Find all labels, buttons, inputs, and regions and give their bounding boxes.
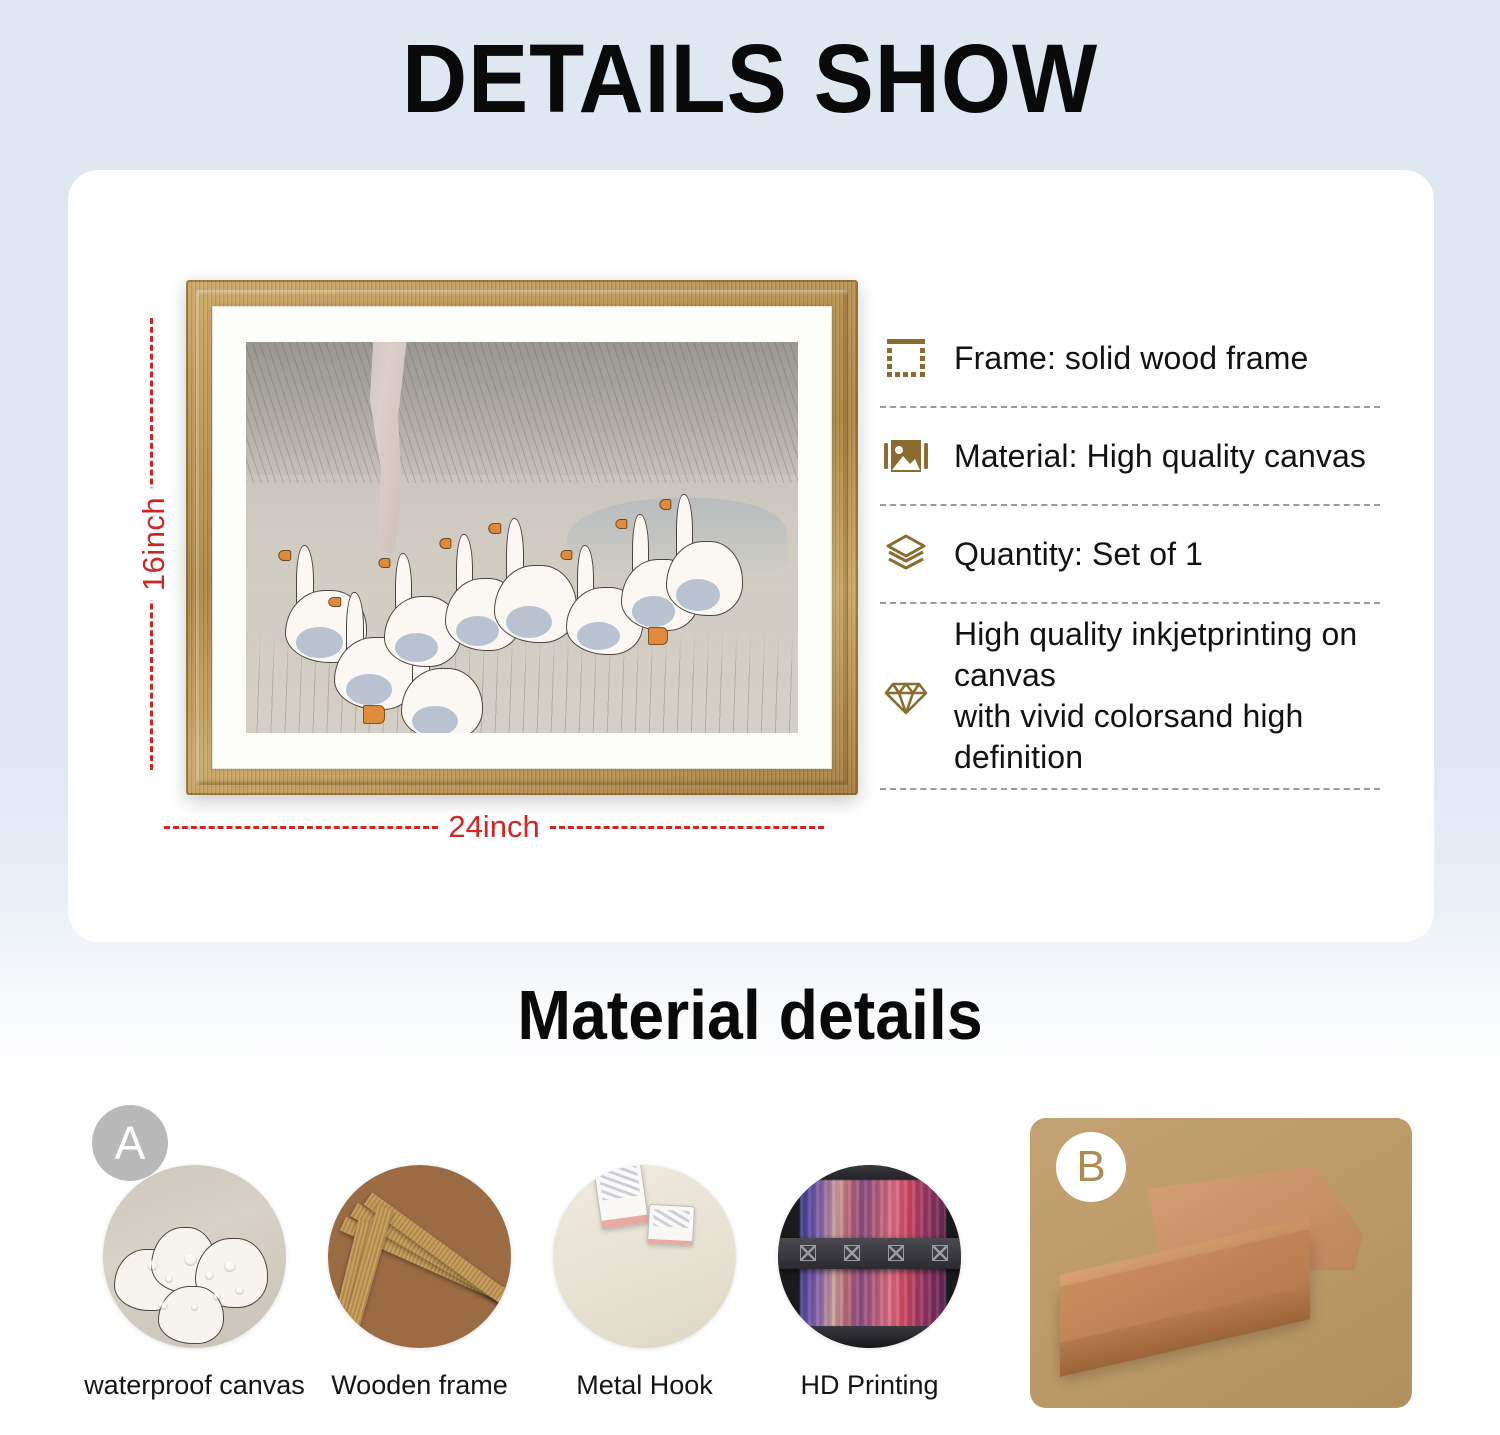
feature-label-printing: High quality inkjetprinting on canvas wi…	[954, 614, 1380, 778]
feature-row-quantity: Quantity: Set of 1	[880, 506, 1380, 602]
material-thumb-caption: Metal Hook	[576, 1370, 713, 1401]
diamond-icon	[880, 675, 932, 717]
feature-divider-4	[880, 788, 1380, 790]
feature-label-quantity: Quantity: Set of 1	[954, 534, 1203, 575]
feature-list: Frame: solid wood frame Material: High q…	[880, 310, 1380, 790]
frame-mat	[212, 306, 832, 769]
layers-icon	[880, 533, 932, 575]
metal-hook-image	[553, 1165, 736, 1348]
material-thumb-caption: Wooden frame	[331, 1370, 508, 1401]
feature-row-printing: High quality inkjetprinting on canvas wi…	[880, 604, 1380, 788]
image-icon	[880, 436, 932, 476]
feature-label-material: Material: High quality canvas	[954, 436, 1366, 477]
artwork-image	[246, 342, 798, 733]
material-thumb-caption: HD Printing	[800, 1370, 938, 1401]
frame-icon	[880, 337, 932, 379]
width-ruler-line-left	[164, 826, 438, 829]
wooden-frame-image	[328, 1165, 511, 1348]
material-thumb-caption: waterproof canvas	[84, 1370, 305, 1401]
width-ruler-label: 24inch	[438, 809, 549, 845]
material-thumb-metal-hook[interactable]: Metal Hook	[532, 1165, 757, 1401]
width-ruler: 24inch	[164, 804, 824, 850]
width-ruler-line-right	[550, 826, 824, 829]
feature-row-frame: Frame: solid wood frame	[880, 310, 1380, 406]
waterproof-canvas-image	[103, 1165, 286, 1348]
material-thumb-wooden-frame[interactable]: Wooden frame	[307, 1165, 532, 1401]
feature-label-frame: Frame: solid wood frame	[954, 338, 1308, 379]
material-details-title: Material details	[60, 975, 1440, 1055]
badge-a: A	[92, 1105, 168, 1181]
framed-artwork-block: 16inch	[128, 280, 818, 840]
height-ruler-label: 16inch	[131, 488, 177, 600]
picture-frame	[186, 280, 858, 795]
badge-b: B	[1056, 1132, 1126, 1202]
details-panel: 16inch	[68, 170, 1434, 942]
material-thumb-waterproof-canvas[interactable]: waterproof canvas	[82, 1165, 307, 1401]
material-thumb-hd-printing[interactable]: HD Printing	[757, 1165, 982, 1401]
page-title: DETAILS SHOW	[53, 0, 1448, 133]
feature-row-material: Material: High quality canvas	[880, 408, 1380, 504]
height-ruler: 16inch	[128, 318, 174, 770]
hd-printing-image	[778, 1165, 961, 1348]
packaging-panel: B	[1030, 1118, 1412, 1408]
